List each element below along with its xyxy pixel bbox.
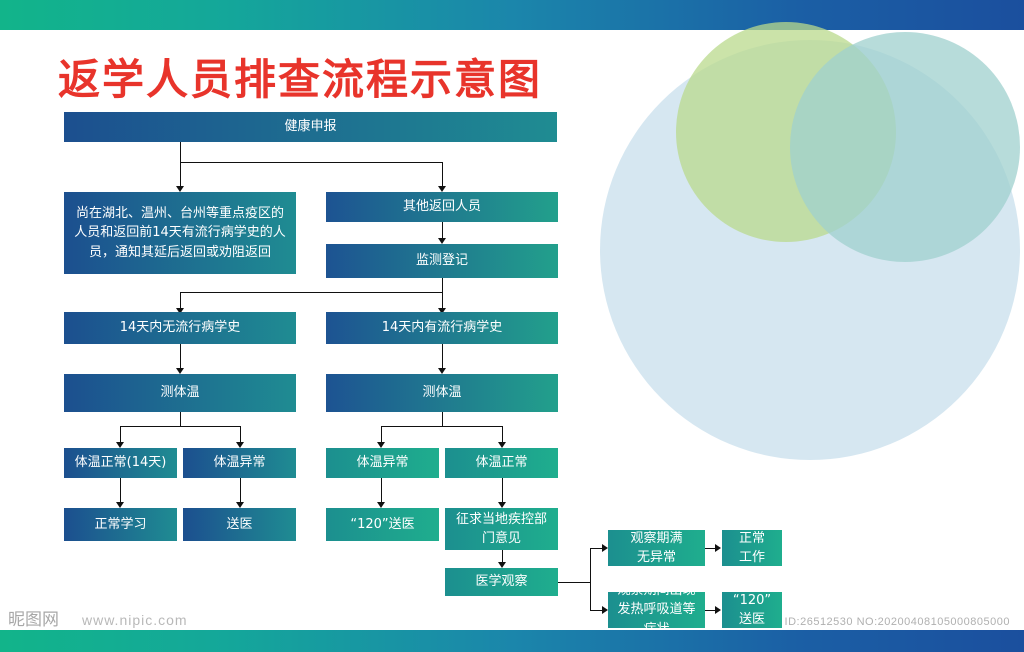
connector	[120, 426, 121, 442]
top-gradient-bar	[0, 0, 1024, 30]
connector	[502, 550, 503, 562]
node-no-epi-history-label: 14天内无流行病学史	[70, 318, 290, 338]
node-call-120-end-label: “120” 送医	[728, 591, 776, 630]
node-medical-observation: 医学观察	[445, 568, 558, 596]
node-temp-normal-14days: 体温正常(14天)	[64, 448, 177, 478]
node-no-epi-history: 14天内无流行病学史	[64, 312, 296, 344]
decorative-circle-teal	[790, 32, 1020, 262]
node-health-report: 健康申报	[64, 112, 557, 142]
node-other-return: 其他返回人员	[326, 192, 558, 222]
connector	[558, 582, 590, 583]
node-temp-measure-right-label: 测体温	[332, 383, 552, 403]
node-temp-measure-right: 测体温	[326, 374, 558, 412]
node-temp-abnormal-right: 体温异常	[326, 448, 439, 478]
connector	[442, 278, 443, 292]
node-observation-symptoms: 观察期间出现发热呼吸道等症状	[608, 592, 705, 628]
node-health-report-label: 健康申报	[70, 117, 551, 137]
node-monitor-register-label: 监测登记	[332, 251, 552, 271]
node-hubei-key-area-label: 尚在湖北、温州、台州等重点疫区的人员和返回前14天有流行病学史的人员，通知其延后…	[70, 204, 290, 263]
connector	[180, 162, 442, 163]
connector	[381, 426, 382, 442]
connector	[442, 292, 443, 308]
node-normal-study: 正常学习	[64, 508, 177, 541]
connector	[180, 292, 181, 308]
node-medical-observation-label: 医学观察	[451, 572, 552, 592]
node-call-120-end: “120” 送医	[722, 592, 782, 628]
connector	[381, 426, 503, 427]
connector	[180, 162, 181, 186]
node-temp-measure-left: 测体温	[64, 374, 296, 412]
node-other-return-label: 其他返回人员	[332, 197, 552, 217]
arrow-icon	[715, 544, 721, 552]
node-consult-cdc-label: 征求当地疾控部门意见	[451, 510, 552, 549]
connector	[442, 412, 443, 426]
node-temp-normal-right-label: 体温正常	[451, 453, 552, 473]
node-observation-done-normal-label: 观察期满 无异常	[614, 529, 699, 568]
node-send-hospital-left: 送医	[183, 508, 296, 541]
arrow-icon	[715, 606, 721, 614]
connector	[120, 426, 241, 427]
connector	[442, 344, 443, 368]
node-hubei-key-area: 尚在湖北、温州、台州等重点疫区的人员和返回前14天有流行病学史的人员，通知其延后…	[64, 192, 296, 274]
connector	[442, 162, 443, 186]
connector	[442, 222, 443, 238]
node-has-epi-history-label: 14天内有流行病学史	[332, 318, 552, 338]
poster-canvas: 返学人员排查流程示意图 健康申报 尚在湖北、温州、台州等重点疫区的人员和返回前1…	[0, 0, 1024, 652]
connector	[590, 548, 602, 549]
node-normal-work: 正常 工作	[722, 530, 782, 566]
node-normal-work-label: 正常 工作	[728, 529, 776, 568]
node-temp-abnormal-left-label: 体温异常	[189, 453, 290, 473]
connector	[180, 412, 181, 426]
watermark-url: www.nipic.com	[82, 612, 188, 628]
bottom-gradient-bar	[0, 630, 1024, 652]
node-observation-done-normal: 观察期满 无异常	[608, 530, 705, 566]
node-normal-study-label: 正常学习	[70, 515, 171, 535]
connector	[381, 478, 382, 502]
connector	[240, 426, 241, 442]
node-consult-cdc: 征求当地疾控部门意见	[445, 508, 558, 550]
connector	[180, 292, 443, 293]
connector	[590, 548, 591, 610]
connector	[502, 478, 503, 502]
node-has-epi-history: 14天内有流行病学史	[326, 312, 558, 344]
node-send-hospital-left-label: 送医	[189, 515, 290, 535]
node-temp-normal-right: 体温正常	[445, 448, 558, 478]
node-temp-measure-left-label: 测体温	[70, 383, 290, 403]
connector	[120, 478, 121, 502]
connector	[180, 344, 181, 368]
connector	[502, 426, 503, 442]
node-temp-abnormal-right-label: 体温异常	[332, 453, 433, 473]
watermark-logo: 昵图网	[8, 605, 59, 630]
connector	[590, 610, 602, 611]
node-monitor-register: 监测登记	[326, 244, 558, 278]
node-call-120-right-label: “120”送医	[332, 515, 433, 535]
node-temp-normal-14days-label: 体温正常(14天)	[70, 453, 171, 473]
connector	[705, 610, 715, 611]
node-call-120-right: “120”送医	[326, 508, 439, 541]
connector	[180, 142, 181, 162]
watermark-id: ID:26512530 NO:20200408105000805000	[785, 616, 1010, 628]
page-title: 返学人员排查流程示意图	[58, 46, 542, 107]
connector	[240, 478, 241, 502]
connector	[705, 548, 715, 549]
node-temp-abnormal-left: 体温异常	[183, 448, 296, 478]
